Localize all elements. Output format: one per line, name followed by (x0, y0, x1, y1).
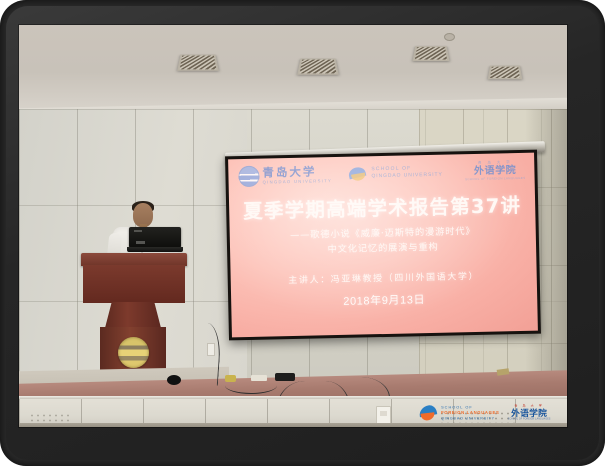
school-logo-line2: QINGDAO UNIVERSITY (371, 172, 442, 181)
floor-baseboard (19, 423, 567, 427)
slide-speaker-line: 主讲人：冯亚琳教授（四川外国语大学） (231, 268, 537, 288)
slide-title: 夏季学期高端学术报告第37讲 (229, 189, 536, 225)
slide-date: 2018年9月13日 (231, 289, 537, 312)
school-swoosh-icon (348, 164, 368, 182)
university-name-en: QINGDAO UNIVERSITY (263, 179, 333, 185)
university-name-cn: 青岛大学 (262, 166, 332, 179)
slide-subtitle: ——歌德小说《威廉·迈斯特的漫游时代》 中文化记忆的展演与重构 (230, 223, 537, 260)
lectern-podium (81, 253, 187, 385)
ceiling-vent-icon (413, 46, 450, 61)
qingdao-university-logo: 青岛大学 QINGDAO UNIVERSITY (238, 164, 332, 187)
banner-chinese-block: 青 岛 大 学 外语学院 SCHOOL OF FOREIGN LANGUAGES (508, 405, 551, 421)
floor-cable-reel (167, 375, 181, 385)
school-logo: SCHOOL OF QINGDAO UNIVERSITY (348, 163, 443, 183)
stage-school-banner-logo: SCHOOL OF FOREIGN LANGUAGES QINGDAO UNIV… (419, 405, 551, 422)
foreign-languages-logo: 青 岛 大 学 外语学院 SCHOOL OF FOREIGN LANGUAGES (465, 161, 526, 181)
projection-screen: 青岛大学 QINGDAO UNIVERSITY SCHOOL OF QINGDA… (225, 150, 541, 341)
university-seal-icon (238, 166, 259, 187)
ceiling (19, 25, 567, 111)
ceiling-vent-icon (297, 59, 339, 75)
smoke-detector-icon (444, 33, 455, 41)
banner-swoosh-icon (419, 405, 437, 422)
slide-logo-row: 青岛大学 QINGDAO UNIVERSITY SCHOOL OF QINGDA… (228, 158, 534, 191)
podium-front-panel (83, 265, 185, 303)
podium-neck (105, 302, 161, 328)
cable (225, 377, 277, 394)
ceiling-vent-icon (488, 66, 522, 80)
presentation-slide: 青岛大学 QINGDAO UNIVERSITY SCHOOL OF QINGDA… (228, 153, 538, 338)
laptop-lid (129, 227, 181, 248)
laptop-base (127, 247, 183, 252)
banner-cn-main: 外语学院 (508, 409, 551, 418)
banner-cn-en: SCHOOL OF FOREIGN LANGUAGES (508, 419, 551, 421)
stage-perforation-pattern (29, 413, 69, 423)
laptop-computer (127, 227, 181, 255)
lecture-hall-photograph: 青岛大学 QINGDAO UNIVERSITY SCHOOL OF QINGDA… (19, 25, 567, 427)
photo-frame: 青岛大学 QINGDAO UNIVERSITY SCHOOL OF QINGDA… (0, 0, 605, 466)
laptop-logo-badge (136, 241, 145, 244)
laptop-brand-badge (134, 230, 142, 232)
ceiling-vent-icon (177, 55, 219, 71)
podium-emblem-icon (118, 337, 149, 368)
fl-logo-en: SCHOOL OF FOREIGN LANGUAGES (465, 177, 526, 181)
banner-line3: QINGDAO UNIVERSITY (441, 416, 499, 421)
floor-black-device (275, 373, 295, 381)
